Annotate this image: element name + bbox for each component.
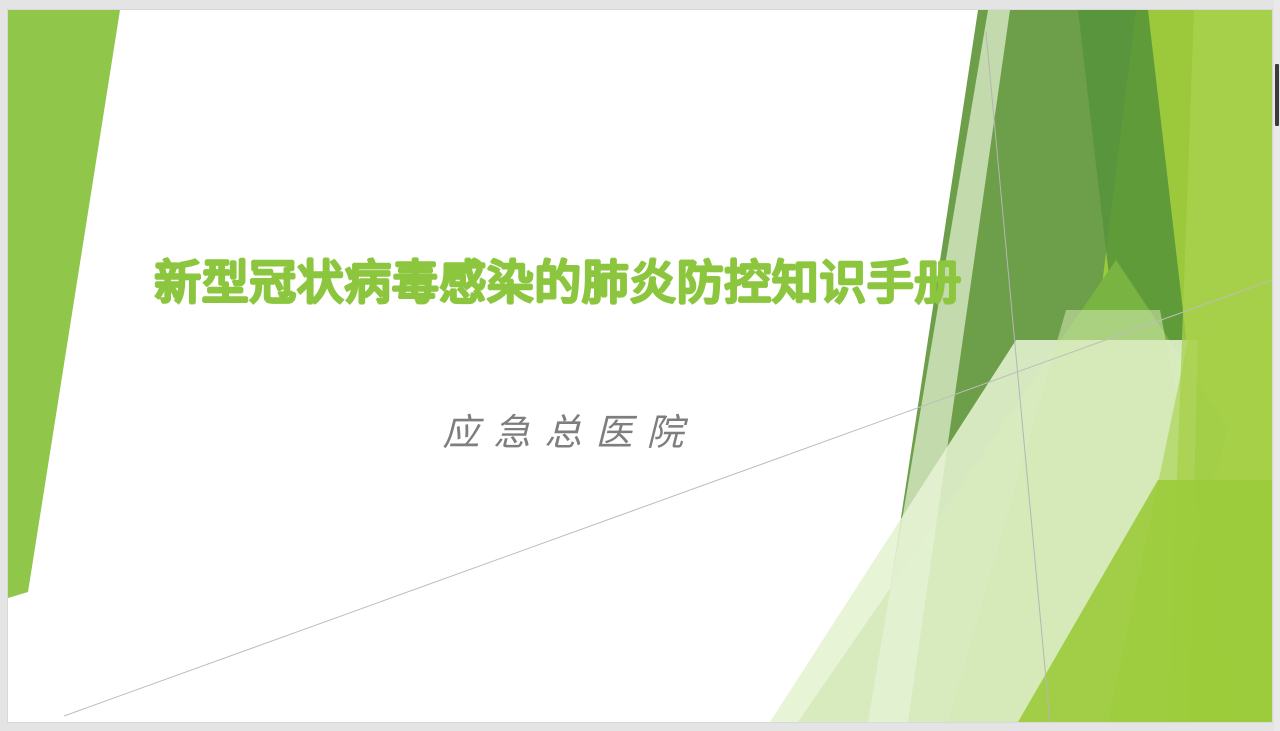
presentation-slide[interactable]: 新型冠状病毒感染的肺炎防控知识手册 应急总医院 <box>8 10 1272 722</box>
slide-title[interactable]: 新型冠状病毒感染的肺炎防控知识手册 <box>68 255 1048 312</box>
vertical-scrollbar-track[interactable] <box>1274 0 1280 731</box>
vertical-scrollbar-thumb[interactable] <box>1275 64 1279 126</box>
slide-subtitle[interactable]: 应急总医院 <box>68 402 1058 456</box>
slide-viewport: 新型冠状病毒感染的肺炎防控知识手册 应急总医院 <box>0 0 1280 731</box>
slide-text-block: 新型冠状病毒感染的肺炎防控知识手册 应急总医院 <box>8 10 1272 722</box>
